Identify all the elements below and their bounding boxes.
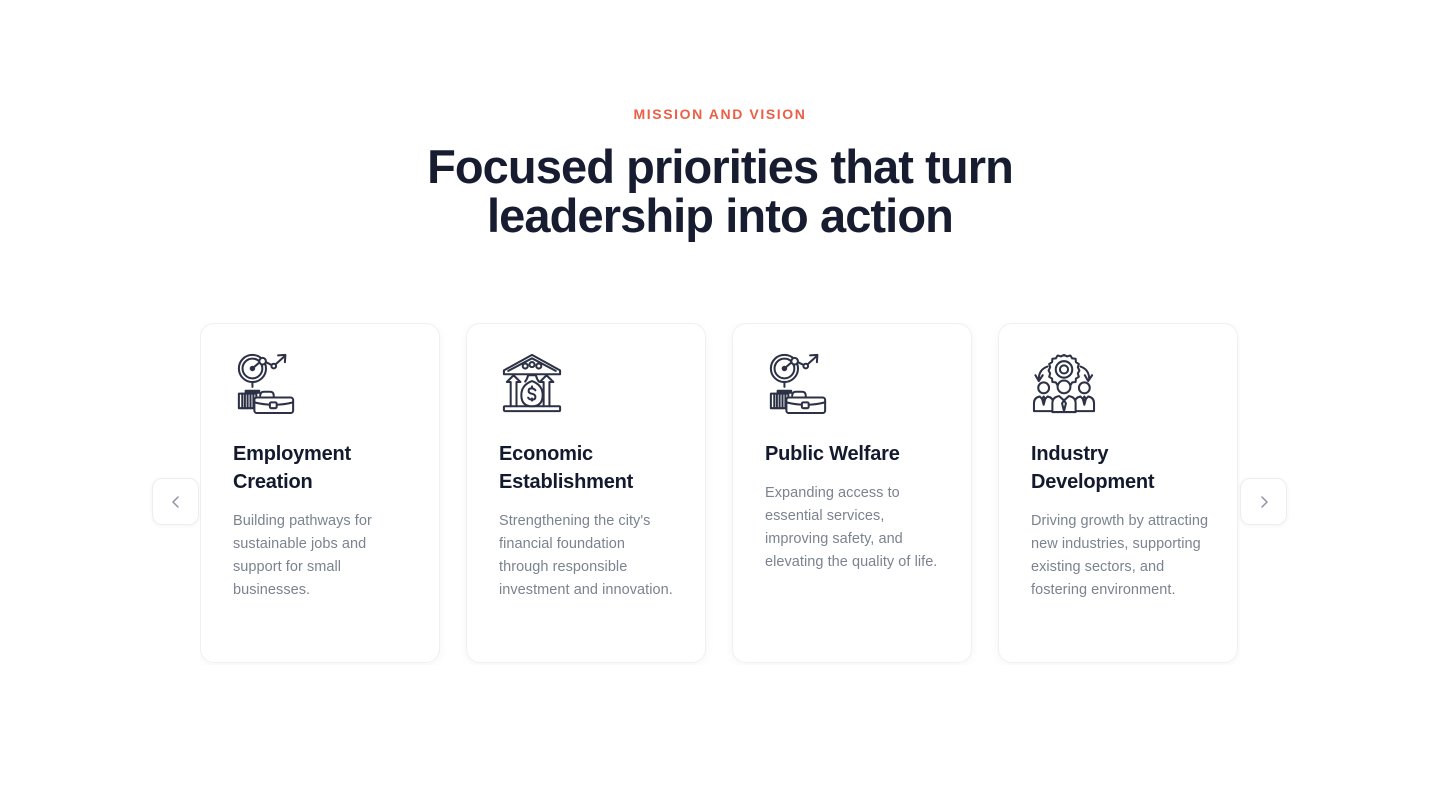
carousel-prev-button[interactable] xyxy=(152,478,199,525)
gear-people-icon xyxy=(1031,352,1097,414)
priority-card[interactable]: Economic Establishment Strengthening the… xyxy=(466,323,706,663)
priority-card[interactable]: Employment Creation Building pathways fo… xyxy=(200,323,440,663)
card-title: Public Welfare xyxy=(765,440,943,468)
carousel-track[interactable]: Employment Creation Building pathways fo… xyxy=(200,323,1240,665)
card-title: Industry Development xyxy=(1031,440,1209,496)
card-description: Strengthening the city's financial found… xyxy=(499,510,677,602)
page-title: Focused priorities that turn leadership … xyxy=(360,142,1080,240)
card-description: Building pathways for sustainable jobs a… xyxy=(233,510,411,602)
bank-money-bag-icon xyxy=(499,352,565,414)
magnifier-growth-briefcase-icon xyxy=(765,352,831,414)
priorities-carousel: Employment Creation Building pathways fo… xyxy=(200,323,1240,665)
chevron-left-icon xyxy=(169,495,183,509)
card-description: Driving growth by attracting new industr… xyxy=(1031,510,1209,602)
card-title: Employment Creation xyxy=(233,440,411,496)
card-description: Expanding access to essential services, … xyxy=(765,482,943,574)
card-title: Economic Establishment xyxy=(499,440,677,496)
magnifier-growth-briefcase-icon xyxy=(233,352,299,414)
priority-card[interactable]: Industry Development Driving growth by a… xyxy=(998,323,1238,663)
carousel-next-button[interactable] xyxy=(1240,478,1287,525)
chevron-right-icon xyxy=(1257,495,1271,509)
section-header: MISSION AND VISION Focused priorities th… xyxy=(0,104,1440,240)
mission-vision-section: MISSION AND VISION Focused priorities th… xyxy=(0,0,1440,792)
priority-card[interactable]: Public Welfare Expanding access to essen… xyxy=(732,323,972,663)
section-eyebrow: MISSION AND VISION xyxy=(0,104,1440,124)
